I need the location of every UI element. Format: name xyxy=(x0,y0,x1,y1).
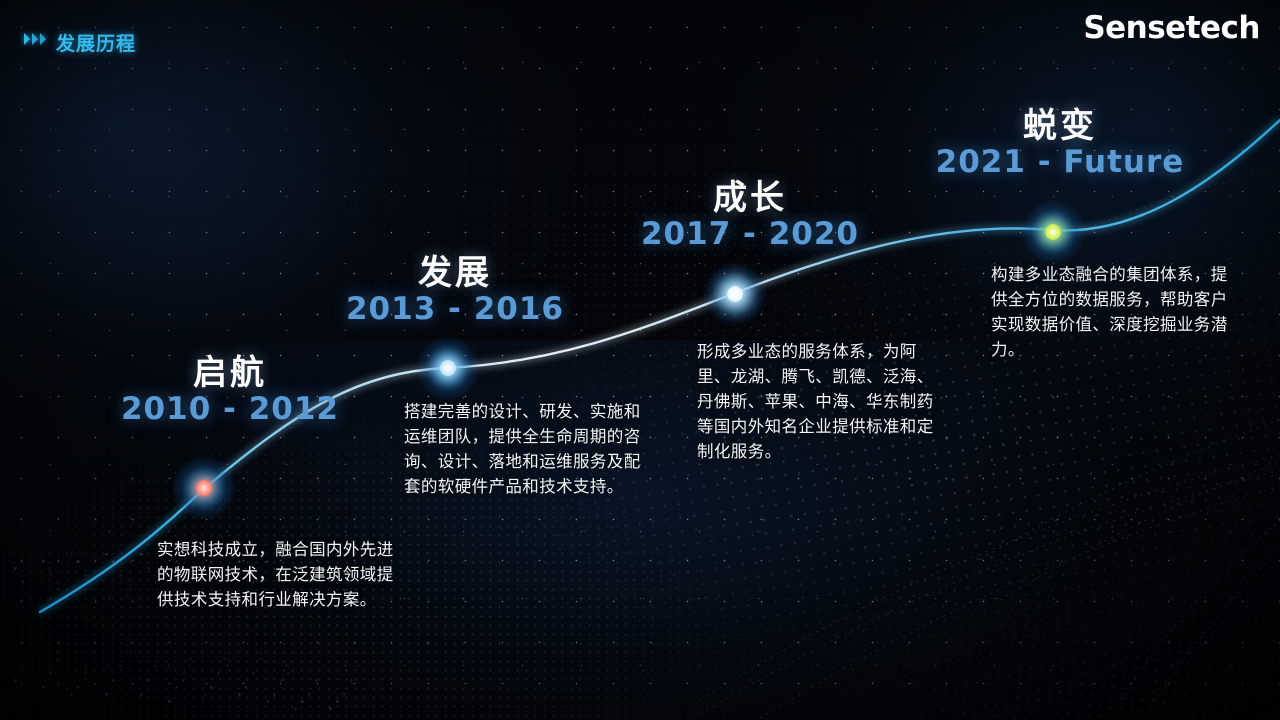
milestone-dot-tuibian[interactable] xyxy=(1021,200,1085,264)
milestone-period: 2013 - 2016 xyxy=(330,292,580,328)
milestone-dot-fazhan[interactable] xyxy=(416,336,480,400)
milestone-description-chengzhang: 形成多业态的服务体系，为阿里、龙湖、腾飞、凯德、泛海、丹佛斯、苹果、中海、华东制… xyxy=(697,340,935,465)
milestone-period: 2021 - Future xyxy=(935,145,1185,181)
milestone-period: 2010 - 2012 xyxy=(100,392,360,428)
dot-core xyxy=(440,360,456,376)
milestone-description-text: 实想科技成立，融合国内外先进的物联网技术，在泛建筑领域提供技术支持和行业解决方案… xyxy=(157,538,395,613)
chevrons-right-icon xyxy=(24,33,46,45)
milestone-title: 发展 xyxy=(330,255,580,292)
page-title: 发展历程 xyxy=(56,29,136,56)
milestone-title: 启航 xyxy=(100,355,360,392)
milestone-description-tuibian: 构建多业态融合的集团体系，提供全方位的数据服务，帮助客户实现数据价值、深度挖掘业… xyxy=(991,263,1229,363)
milestone-description-fazhan: 搭建完善的设计、研发、实施和运维团队，提供全生命周期的咨询、设计、落地和运维服务… xyxy=(404,400,642,500)
milestone-dot-qihang[interactable] xyxy=(172,456,236,520)
milestone-tuibian[interactable]: 蜕变 2021 - Future xyxy=(935,108,1185,181)
milestone-title: 蜕变 xyxy=(935,108,1185,145)
milestone-description-text: 形成多业态的服务体系，为阿里、龙湖、腾飞、凯德、泛海、丹佛斯、苹果、中海、华东制… xyxy=(697,340,935,465)
milestone-chengzhang[interactable]: 成长 2017 - 2020 xyxy=(625,180,875,253)
slide-header: 发展历程 Sensetech xyxy=(0,0,1280,62)
milestone-qihang[interactable]: 启航 2010 - 2012 xyxy=(100,355,360,428)
milestone-description-qihang: 实想科技成立，融合国内外先进的物联网技术，在泛建筑领域提供技术支持和行业解决方案… xyxy=(157,538,395,613)
milestone-title: 成长 xyxy=(625,180,875,217)
dot-core xyxy=(727,286,743,302)
milestone-description-text: 搭建完善的设计、研发、实施和运维团队，提供全生命周期的咨询、设计、落地和运维服务… xyxy=(404,400,642,500)
milestone-fazhan[interactable]: 发展 2013 - 2016 xyxy=(330,255,580,328)
company-logo: Sensetech xyxy=(1083,10,1260,46)
milestone-period: 2017 - 2020 xyxy=(625,217,875,253)
milestone-dot-chengzhang[interactable] xyxy=(703,262,767,326)
dot-core xyxy=(1045,224,1061,240)
milestone-description-text: 构建多业态融合的集团体系，提供全方位的数据服务，帮助客户实现数据价值、深度挖掘业… xyxy=(991,263,1229,363)
dot-core xyxy=(196,480,212,496)
